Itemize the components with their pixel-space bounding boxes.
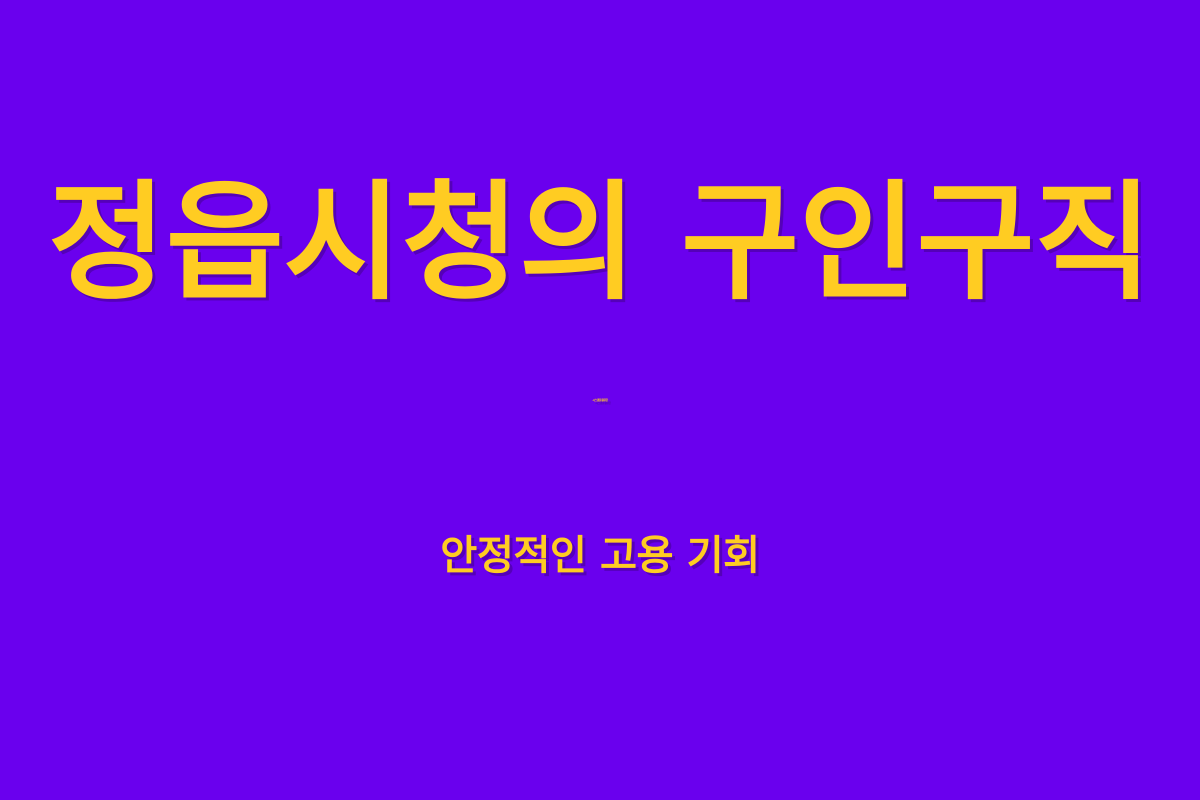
headline-text: 정읍시청의 구인구직 시스템을 활용한 안정적인 고용 기회 (48, 166, 1152, 634)
banner-canvas: 정읍시청의 구인구직 시스템을 활용한 안정적인 고용 기회 (0, 0, 1200, 800)
headline-line-3: 안정적인 고용 기회 (48, 478, 1152, 634)
headline-line-2: 시스템을 활용한 (48, 322, 1152, 478)
headline-line-1: 정읍시청의 구인구직 (48, 166, 1152, 322)
